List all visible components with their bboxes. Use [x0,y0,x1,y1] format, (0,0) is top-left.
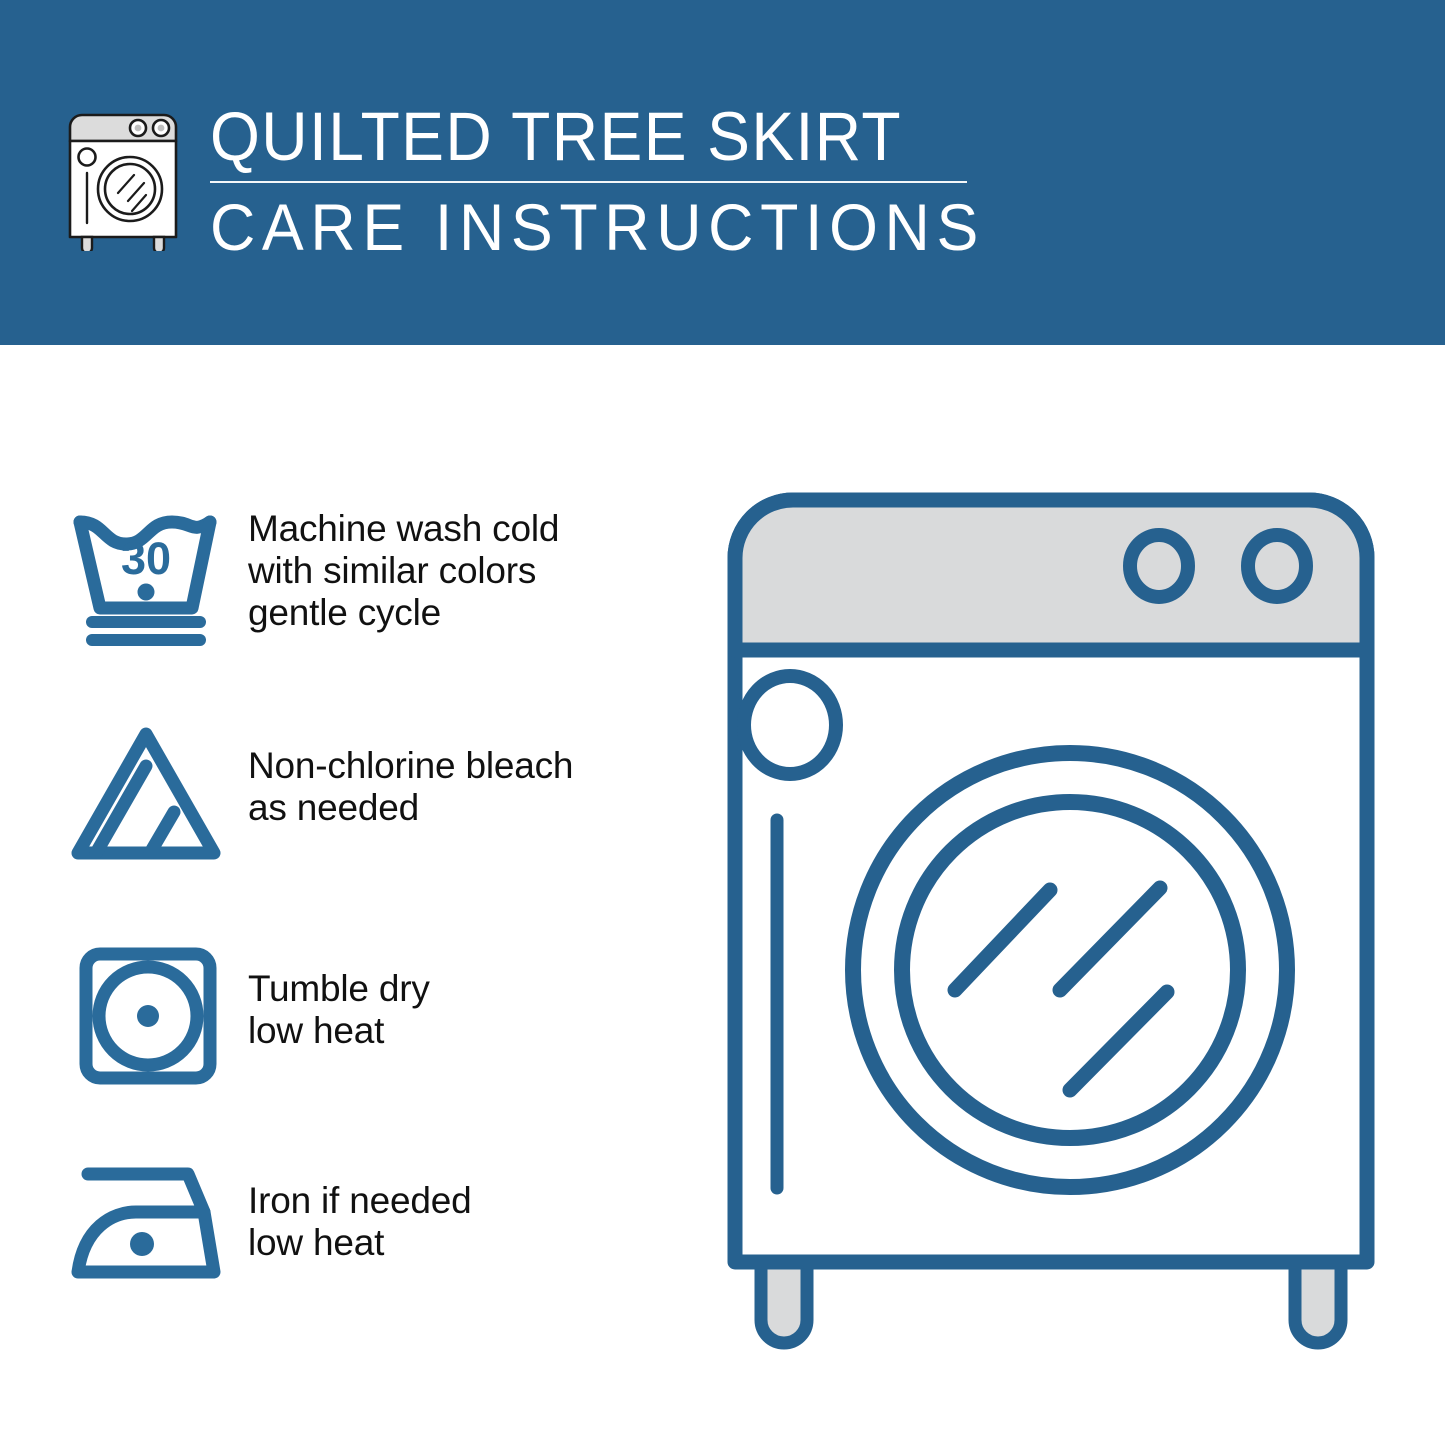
care-item-bleach: Non-chlorine bleach as needed [60,720,700,870]
care-line: low heat [248,1222,471,1264]
care-item-iron: Iron if needed low heat [60,1150,700,1300]
page-title: QUILTED TREE SKIRT [210,99,1300,175]
header-title-group: QUILTED TREE SKIRT CARE INSTRUCTIONS [210,95,1382,263]
tumble-dry-low-icon [60,940,240,1090]
non-chlorine-bleach-triangle-icon [60,720,240,870]
header-banner: QUILTED TREE SKIRT CARE INSTRUCTIONS [0,0,1445,345]
care-item-label: Iron if needed low heat [248,1150,471,1264]
care-item-tumble-dry: Tumble dry low heat [60,940,700,1090]
wash-tub-30-icon: 30 [60,500,240,650]
care-line: Machine wash cold [248,508,559,550]
care-line: as needed [248,787,573,829]
header-content: QUILTED TREE SKIRT CARE INSTRUCTIONS [62,95,1382,265]
front-load-washing-machine-illustration [715,470,1415,1380]
care-item-machine-wash: 30 Machine wash cold with similar colors… [60,500,700,650]
care-line: Tumble dry [248,968,430,1010]
iron-low-heat-icon [60,1150,240,1300]
knob-right [1248,535,1306,597]
wash-temperature-value: 30 [121,533,171,584]
knob-left [1130,535,1188,597]
care-line: low heat [248,1010,430,1052]
care-line: with similar colors [248,550,559,592]
title-divider [210,181,967,183]
washing-machine-icon [62,101,184,251]
care-line: gentle cycle [248,592,559,634]
care-item-label: Non-chlorine bleach as needed [248,720,573,829]
page-subtitle: CARE INSTRUCTIONS [210,191,1323,263]
care-line: Iron if needed [248,1180,471,1222]
machine-legs [761,1258,1341,1343]
care-item-label: Machine wash cold with similar colors ge… [248,500,559,634]
care-item-label: Tumble dry low heat [248,940,430,1052]
care-line: Non-chlorine bleach [248,745,573,787]
